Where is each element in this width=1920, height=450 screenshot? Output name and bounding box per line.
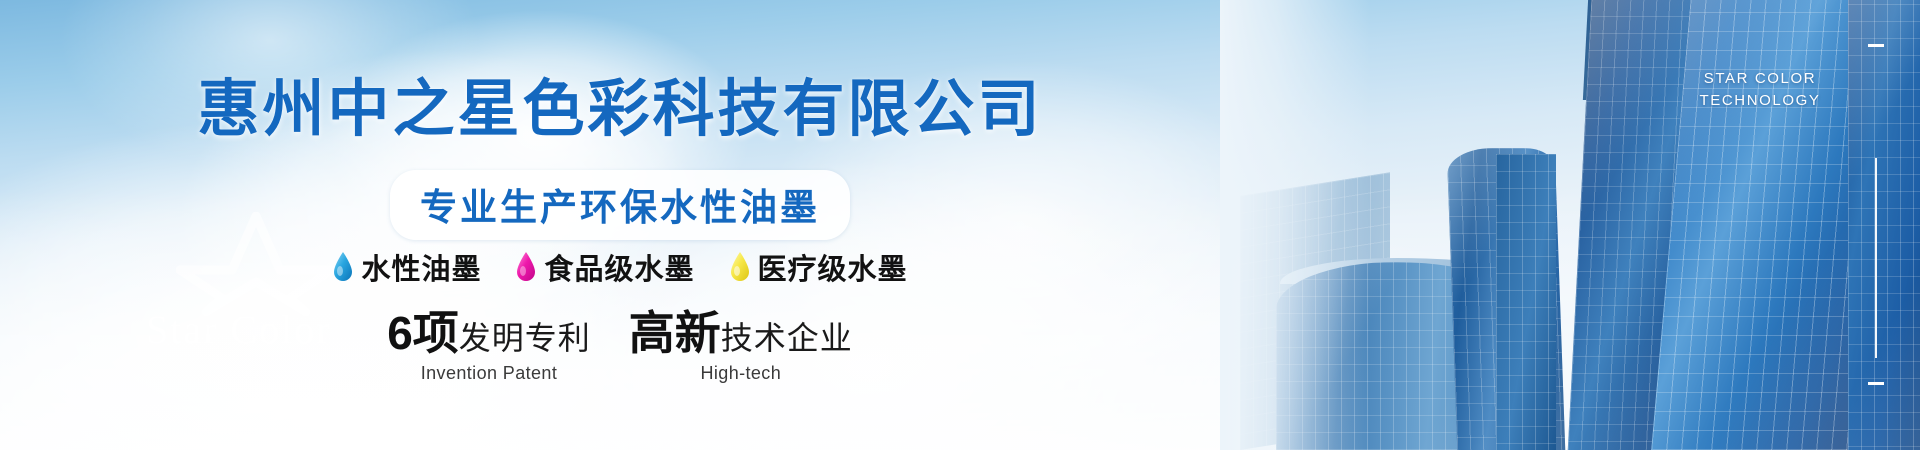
feature-label: 水性油墨 <box>361 246 481 288</box>
badge-strong-text: 6项 <box>387 307 459 359</box>
subtitle-row: 专业生产环保水性油墨 <box>0 170 1240 240</box>
badge-chinese-line: 高新技术企业 <box>629 310 853 356</box>
badge-strong-text: 高新 <box>629 307 721 359</box>
tech-mark-line-1: STAR COLOR <box>1640 68 1880 90</box>
feature-label: 医疗级水墨 <box>758 246 908 288</box>
water-drop-icon <box>729 252 751 282</box>
credential-badges: 6项发明专利 Invention Patent 高新技术企业 High-tech <box>0 310 1240 384</box>
feature-item-water-ink: 水性油墨 <box>332 246 481 288</box>
feature-item-medical-grade: 医疗级水墨 <box>729 246 908 288</box>
badge-english-line: High-tech <box>629 363 853 384</box>
water-drop-icon <box>332 252 354 282</box>
subtitle-pill: 专业生产环保水性油墨 <box>390 170 850 240</box>
badge-chinese-line: 6项发明专利 <box>387 310 591 356</box>
badge-english-line: Invention Patent <box>387 363 591 384</box>
building-mid-tower-side <box>1496 154 1556 450</box>
water-drop-icon <box>515 252 537 282</box>
accent-vertical-line <box>1875 158 1877 358</box>
buildings-left-fade <box>1220 0 1370 450</box>
company-headline: 惠州中之星色彩科技有限公司 <box>0 58 1240 148</box>
feature-item-food-grade: 食品级水墨 <box>515 246 694 288</box>
banner-content: 惠州中之星色彩科技有限公司 专业生产环保水性油墨 水性油 <box>0 0 1240 450</box>
badge-high-tech: 高新技术企业 High-tech <box>629 310 853 384</box>
tech-mark-line-2: TECHNOLOGY <box>1640 90 1880 112</box>
feature-label: 食品级水墨 <box>544 246 694 288</box>
badge-invention-patent: 6项发明专利 Invention Patent <box>387 310 591 384</box>
skyscraper-photo: STAR COLOR TECHNOLOGY <box>1220 0 1920 450</box>
tech-mark: STAR COLOR TECHNOLOGY <box>1640 68 1880 112</box>
feature-list: 水性油墨 食品级水墨 <box>0 246 1240 288</box>
badge-rest-text: 发明专利 <box>459 320 591 356</box>
accent-dash-top <box>1868 44 1884 47</box>
company-hero-banner: Star Color <box>0 0 1920 450</box>
badge-rest-text: 技术企业 <box>721 320 853 356</box>
accent-dash-bottom <box>1868 382 1884 385</box>
